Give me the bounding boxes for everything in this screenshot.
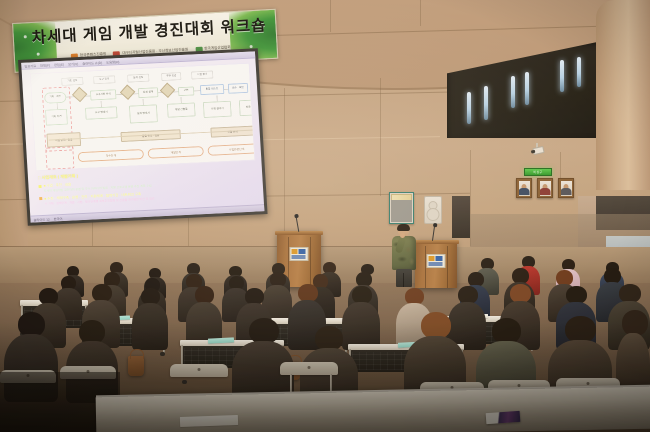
menu-item-help: 도움말(H) bbox=[106, 59, 120, 65]
wall-portrait bbox=[537, 178, 553, 198]
notice-board bbox=[389, 192, 414, 224]
flow-node: 요구 정의 bbox=[93, 75, 115, 84]
flow-phase-pill: 사업완료단계 bbox=[207, 143, 255, 156]
flow-node: 산출물 등록 bbox=[250, 82, 256, 93]
wall-seam bbox=[380, 78, 381, 196]
menu-item-file: 파일(F) bbox=[40, 62, 50, 67]
wall-seam bbox=[284, 88, 285, 246]
flow-node: 기획 의견 bbox=[45, 109, 68, 126]
bullet-marker-icon bbox=[38, 185, 41, 188]
flow-node: 요구사항 분석 bbox=[90, 89, 117, 100]
flow-node: 검수 · 확인 bbox=[228, 83, 249, 94]
flow-node: 기획 검토 bbox=[61, 77, 83, 86]
program-booklet bbox=[486, 411, 521, 424]
exit-sign: 비상구 bbox=[524, 168, 552, 176]
flow-node: 구현 bbox=[178, 86, 195, 96]
flow-node: 요구 명세서 bbox=[85, 106, 118, 120]
audience-member bbox=[132, 288, 168, 348]
podium-emblem bbox=[290, 247, 309, 261]
wall-portrait bbox=[516, 178, 532, 198]
paper-sheet bbox=[180, 415, 238, 427]
flow-node: 설계 검토 bbox=[127, 74, 149, 83]
table-caster bbox=[160, 352, 165, 356]
flow-node: 최종 보고서 bbox=[239, 99, 256, 116]
slide-language: 한국어 bbox=[53, 216, 62, 221]
flow-node: 시험 결과서 bbox=[203, 101, 232, 118]
corner-pillar bbox=[596, 0, 650, 190]
flow-phase-pill: 개발단계 bbox=[147, 146, 204, 159]
flow-node: 시험 평가 bbox=[191, 70, 213, 79]
photograph-seminar-hall: 차세대 게임 개발 경진대회 워크숍 한국콘텐츠진흥원 대구디지털산업진흥원 ·… bbox=[0, 0, 650, 432]
slide-number: 슬라이드 12 bbox=[33, 216, 49, 222]
toolbar-title: 발표자료 bbox=[24, 63, 36, 69]
handbag bbox=[128, 356, 144, 376]
projection-screen: 발표자료 파일(F) 편집(E) 보기(V) 슬라이드 쇼(D) 도움말(H) … bbox=[18, 48, 268, 225]
flow-node: 통합 테스트 bbox=[200, 84, 225, 95]
flow-node: 구현 점검 bbox=[161, 72, 181, 81]
menu-item-edit: 편집(E) bbox=[54, 61, 64, 66]
flow-node: 기획 · 제안 bbox=[44, 92, 67, 104]
menu-item-slideshow: 슬라이드 쇼(D) bbox=[82, 59, 102, 65]
wall-portrait bbox=[558, 178, 574, 198]
wall-seam bbox=[330, 0, 331, 32]
chair-back bbox=[170, 364, 228, 377]
flow-phase-pill: 착수단계 bbox=[78, 149, 145, 162]
flow-node: 개발 산출물 bbox=[167, 102, 196, 117]
table-caster bbox=[182, 380, 187, 384]
doorway bbox=[452, 196, 470, 238]
flow-node: 상세 설계 bbox=[138, 87, 159, 98]
presenter bbox=[391, 225, 417, 287]
wall-seam bbox=[420, 0, 421, 26]
slide-flowchart: 기획 검토 요구 정의 설계 검토 구현 점검 시험 평가 기획 · 제안 요구… bbox=[30, 63, 256, 172]
menu-item-view: 보기(V) bbox=[68, 61, 78, 66]
wall-speaker bbox=[424, 196, 442, 224]
audience-member bbox=[232, 318, 294, 402]
podium-right bbox=[415, 240, 457, 288]
bullet-marker-icon bbox=[39, 197, 42, 200]
podium-emblem bbox=[427, 254, 446, 268]
flow-node: 설계 명세서 bbox=[129, 104, 158, 123]
audience-member bbox=[186, 286, 222, 346]
presentation-slide: 발표자료 파일(F) 편집(E) 보기(V) 슬라이드 쇼(D) 도움말(H) … bbox=[21, 51, 264, 222]
